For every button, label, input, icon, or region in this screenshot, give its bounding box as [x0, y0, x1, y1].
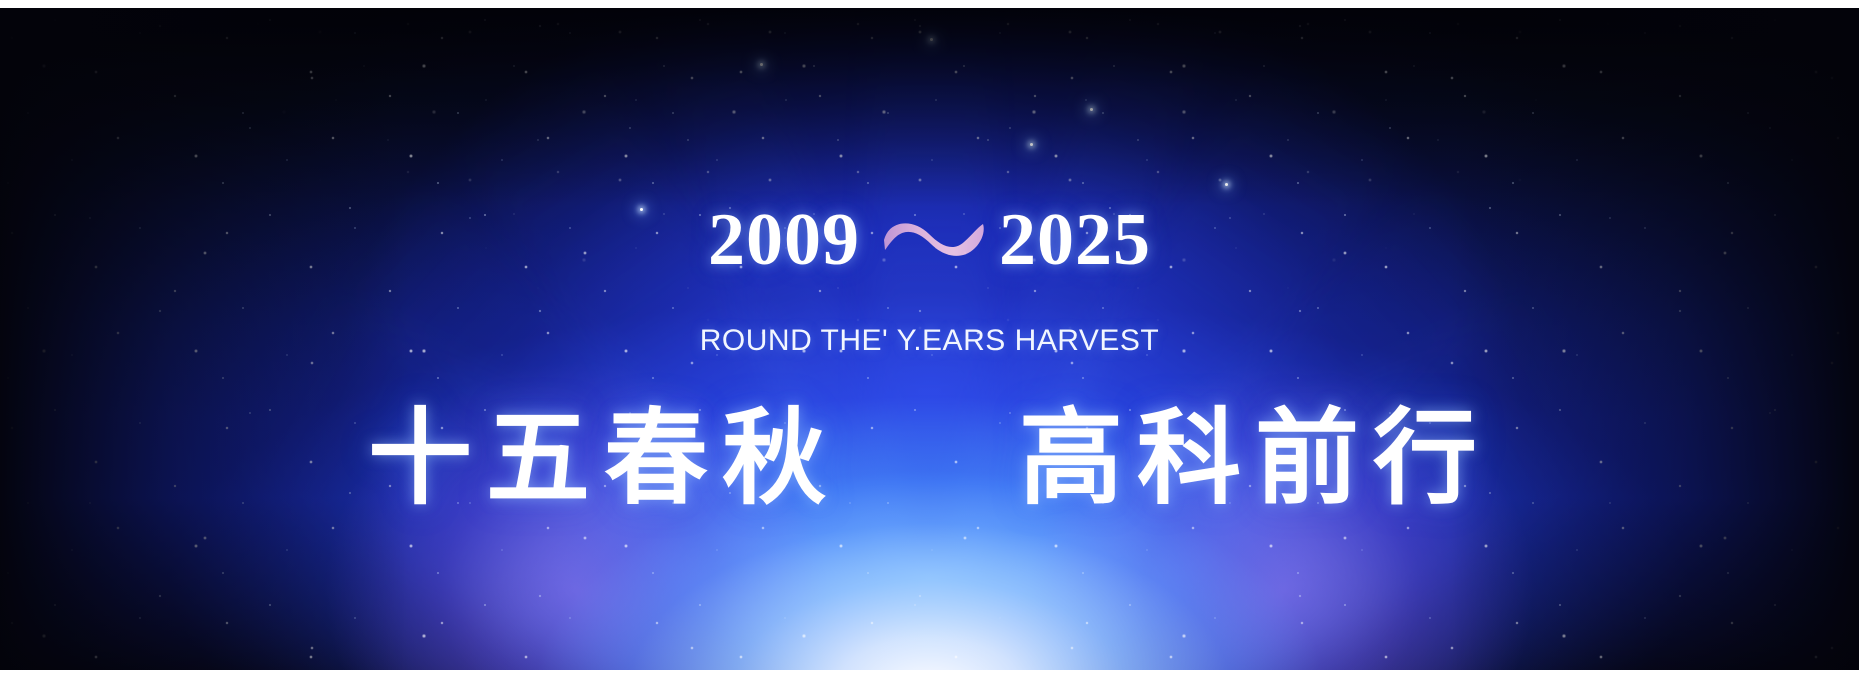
end-year: 2025 — [999, 203, 1151, 277]
chinese-phrase-left: 十五春秋 — [368, 400, 840, 516]
anniversary-banner: 2009 2025 ROUND THE' Y.EARS HA — [0, 0, 1859, 680]
banner-content: 2009 2025 ROUND THE' Y.EARS HA — [0, 8, 1859, 670]
year-range-row: 2009 2025 — [0, 203, 1859, 277]
start-year: 2009 — [708, 203, 860, 277]
bottom-white-strip — [0, 670, 1859, 680]
english-subtitle: ROUND THE' Y.EARS HARVEST — [0, 324, 1859, 358]
chinese-phrase-right: 高科前行 — [1019, 400, 1491, 516]
top-white-strip — [0, 0, 1859, 8]
chinese-slogan-row: 十五春秋 高科前行 — [0, 400, 1859, 516]
tilde-ribbon-icon — [879, 210, 991, 270]
